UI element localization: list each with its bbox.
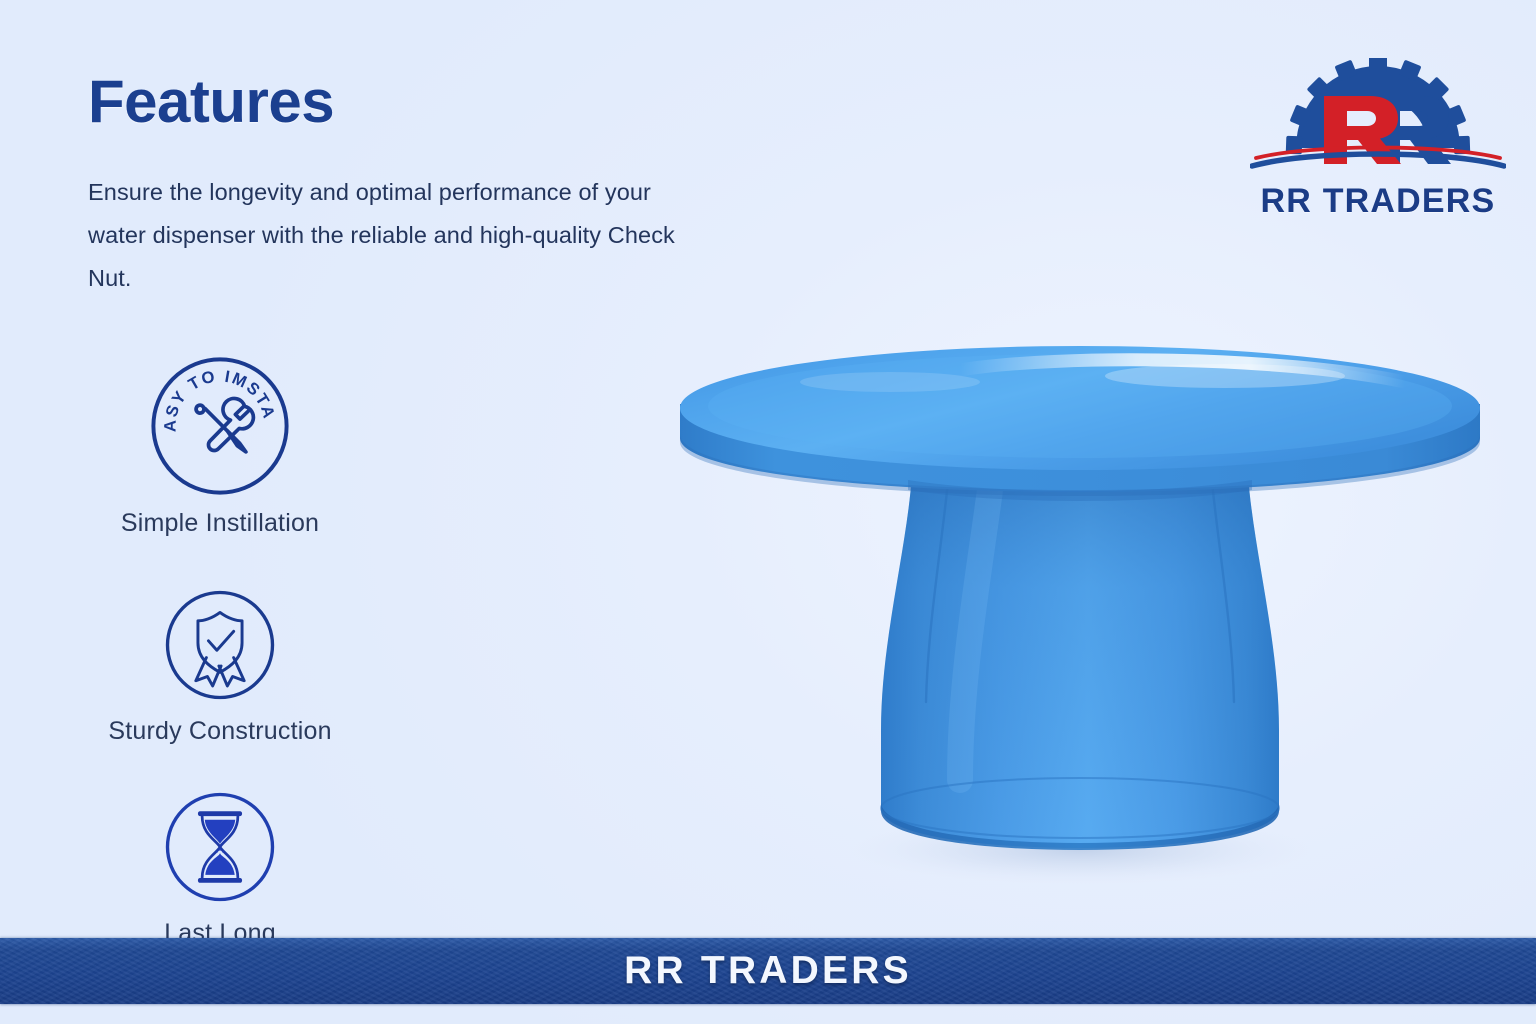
page-title: Features <box>88 70 708 133</box>
header-block: Features Ensure the longevity and optima… <box>88 70 708 299</box>
header-subtitle: Ensure the longevity and optimal perform… <box>88 171 688 299</box>
svg-text:EASY TO IMSTALL: EASY TO IMSTALL <box>146 352 279 432</box>
brand-logo: RR TRADERS <box>1242 58 1514 221</box>
feature-item-sturdy-construction: Sturdy Construction <box>60 582 380 746</box>
product-image <box>660 330 1500 920</box>
feature-item-simple-instillation: EASY TO IMSTALL Simple Instillation <box>60 352 380 538</box>
feature-list: EASY TO IMSTALL Simple Instillation <box>60 352 380 948</box>
feature-label: Sturdy Construction <box>108 717 331 746</box>
feature-label: Simple Instillation <box>121 509 319 538</box>
feature-item-last-long: Last Long <box>60 784 380 948</box>
logo-wordmark: RR TRADERS <box>1261 182 1496 221</box>
easy-to-install-badge-icon: EASY TO IMSTALL <box>146 352 294 500</box>
gear-arc-rr-monogram-logo <box>1250 58 1506 180</box>
poster-canvas: Features Ensure the longevity and optima… <box>0 0 1536 1024</box>
check-nut-illustration <box>660 330 1500 920</box>
shield-check-ribbon-icon <box>157 582 283 708</box>
footer-banner: RR TRADERS <box>0 938 1536 1004</box>
hourglass-icon <box>157 784 283 910</box>
footer-brand-text: RR TRADERS <box>624 949 912 993</box>
